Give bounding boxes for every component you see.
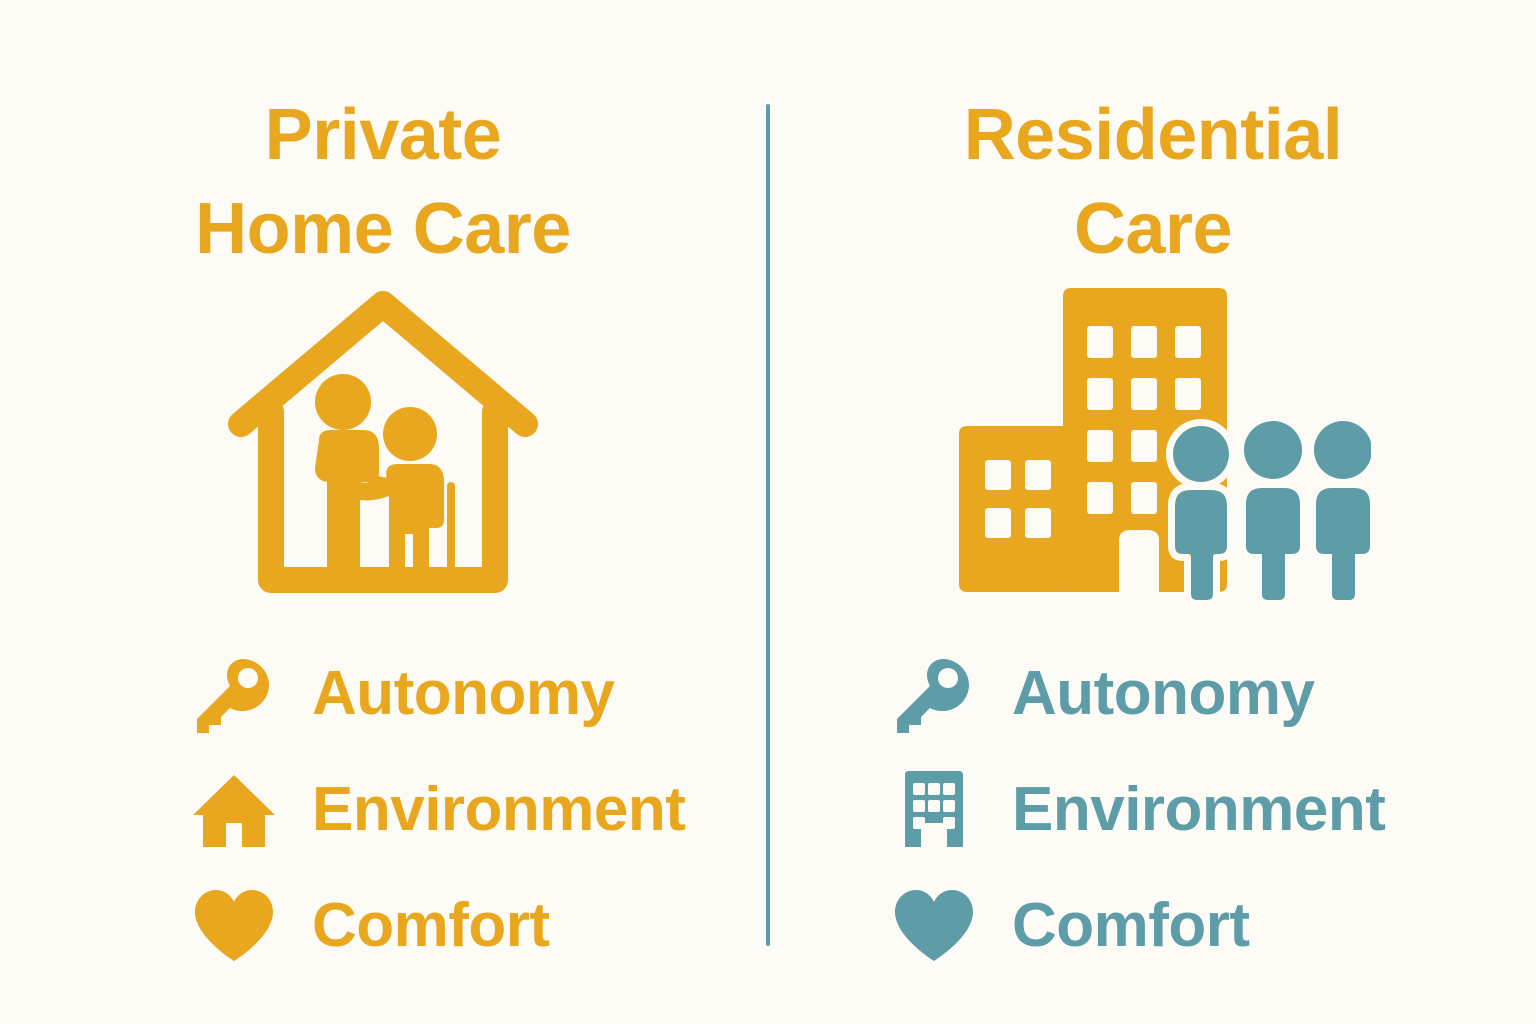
comparison-infographic: Private Home Care [0,0,1536,1024]
heart-icon [886,878,982,974]
house-with-caregiver-and-elderly-icon [223,282,543,602]
feature-label-comfort: Comfort [982,895,1250,957]
feature-row-environment: Environment [886,752,1446,868]
hero-icon-house-with-caregiver-and-elderly [0,282,766,602]
feature-row-comfort: Comfort [886,868,1446,984]
feature-label-comfort: Comfort [282,895,550,957]
house-icon [186,762,282,858]
feature-row-comfort: Comfort [186,868,746,984]
feature-label-autonomy: Autonomy [982,663,1315,725]
heart-icon-svg [191,883,277,969]
feature-list-residential-care: Autonomy Environment [886,636,1446,984]
heart-icon-svg [891,883,977,969]
feature-list-private-home-care: Autonomy Environment Comfort [186,636,746,984]
column-title-private-home-care: Private Home Care [0,88,766,276]
key-icon-svg [191,651,277,737]
feature-row-environment: Environment [186,752,746,868]
feature-label-environment: Environment [282,779,685,841]
feature-row-autonomy: Autonomy [886,636,1446,752]
column-private-home-care: Private Home Care [0,0,766,1024]
column-residential-care: Residential Care [770,0,1536,1024]
heart-icon [186,878,282,974]
key-icon [186,646,282,742]
feature-row-autonomy: Autonomy [186,636,746,752]
building-icon-svg [891,767,977,853]
house-icon-svg [191,767,277,853]
building-icon [886,762,982,858]
feature-label-autonomy: Autonomy [282,663,615,725]
key-icon-svg [891,651,977,737]
hero-icon-apartment-building-with-three-people [778,282,1536,602]
apartment-building-with-three-people-icon [951,282,1371,602]
feature-label-environment: Environment [982,779,1385,841]
key-icon [886,646,982,742]
column-title-residential-care: Residential Care [770,88,1536,276]
